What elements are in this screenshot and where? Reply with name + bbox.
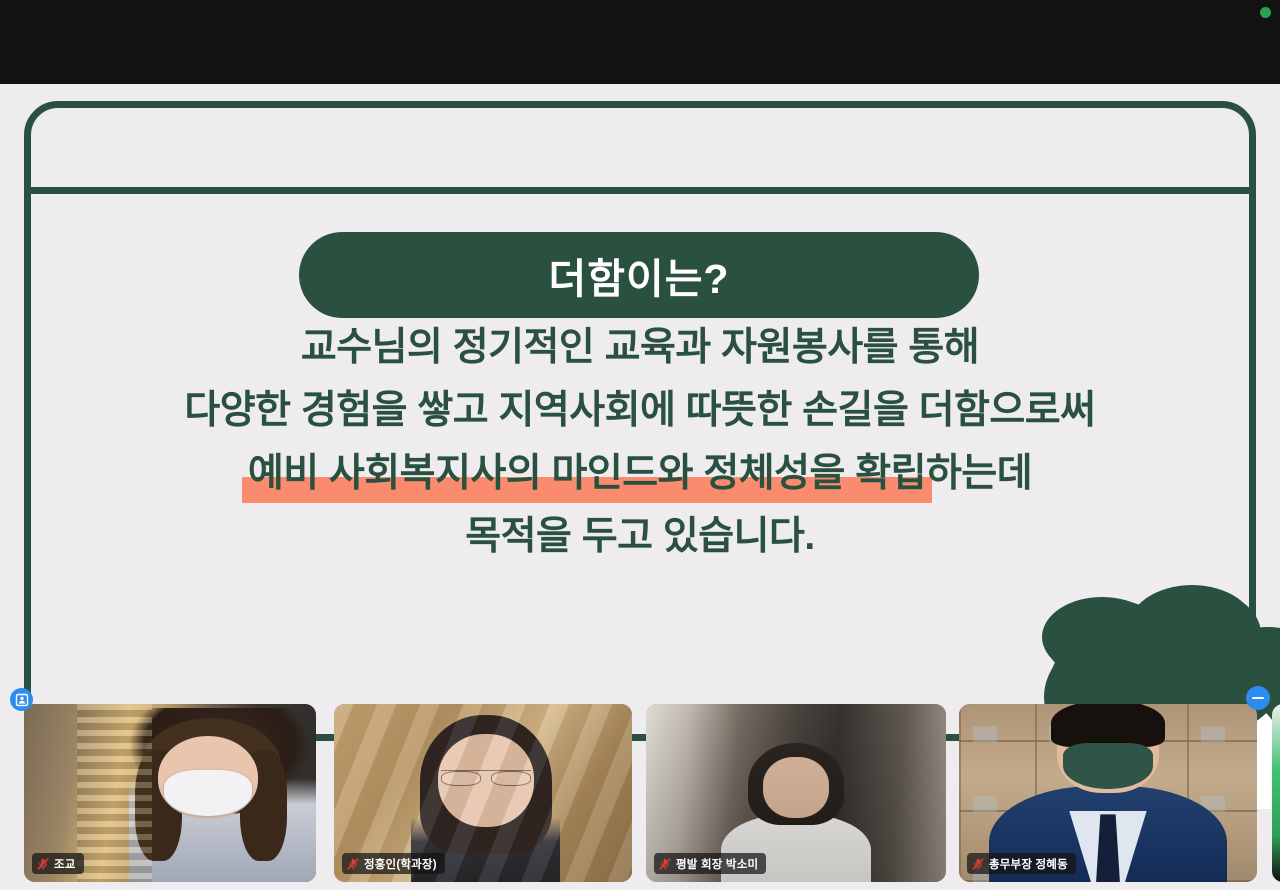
participant-filmstrip: 조교 정홍인(학과장) xyxy=(0,695,1280,890)
minimize-icon xyxy=(1252,697,1264,700)
participant-name-badge: 평발 회장 박소미 xyxy=(654,853,766,874)
participant-name-badge: 정홍인(학과장) xyxy=(342,853,445,874)
participant-tile[interactable]: 평발 회장 박소미 xyxy=(646,704,946,882)
mic-muted-icon xyxy=(971,857,985,871)
slide-body-line-3-highlighted: 예비 사회복지사의 마인드와 정체성을 확립 xyxy=(248,452,926,495)
participant-tile[interactable]: 총무부장 정혜동 xyxy=(959,704,1257,882)
slide-body-highlight: 예비 사회복지사의 마인드와 정체성을 확립 xyxy=(248,442,926,505)
participant-name-badge: 총무부장 정혜동 xyxy=(967,853,1076,874)
slide-body-line-1: 교수님의 정기적인 교육과 자원봉사를 통해 xyxy=(0,316,1280,379)
participant-video xyxy=(1272,704,1280,882)
participant-name-badge: 조교 xyxy=(32,853,84,874)
screen-share-icon[interactable] xyxy=(10,688,33,711)
participant-tile[interactable]: 조교 xyxy=(24,704,316,882)
slide-title-pill: 더함이는? xyxy=(299,232,979,318)
mic-muted-icon xyxy=(36,857,50,871)
mic-muted-icon xyxy=(658,857,672,871)
slide-frame-divider-line xyxy=(24,187,1256,194)
window-topbar xyxy=(0,0,1280,84)
minimize-button[interactable] xyxy=(1246,686,1270,710)
participant-name: 평발 회장 박소미 xyxy=(676,856,758,872)
video-conference-window: 더함이는? 교수님의 정기적인 교육과 자원봉사를 통해 다양한 경험을 쌓고 … xyxy=(0,0,1280,890)
slide-body-line-2: 다양한 경험을 쌓고 지역사회에 따뜻한 손길을 더함으로써 xyxy=(0,379,1280,442)
mic-muted-icon xyxy=(346,857,360,871)
slide-body-line-3-tail: 하는데 xyxy=(926,452,1032,495)
participant-name: 정홍인(학과장) xyxy=(364,856,437,872)
participant-tile[interactable]: 정홍인(학과장) xyxy=(334,704,632,882)
participant-name: 조교 xyxy=(54,856,76,872)
slide-title: 더함이는? xyxy=(549,245,730,305)
slide-body-copy: 교수님의 정기적인 교육과 자원봉사를 통해 다양한 경험을 쌓고 지역사회에 … xyxy=(0,316,1280,568)
recording-indicator-dot xyxy=(1260,7,1271,18)
participant-name: 총무부장 정혜동 xyxy=(989,856,1068,872)
share-person-glyph xyxy=(15,693,29,707)
participant-tile-partial[interactable] xyxy=(1272,704,1280,882)
slide-body-line-3: 예비 사회복지사의 마인드와 정체성을 확립하는데 xyxy=(0,442,1280,505)
slide-body-line-4: 목적을 두고 있습니다. xyxy=(0,505,1280,568)
